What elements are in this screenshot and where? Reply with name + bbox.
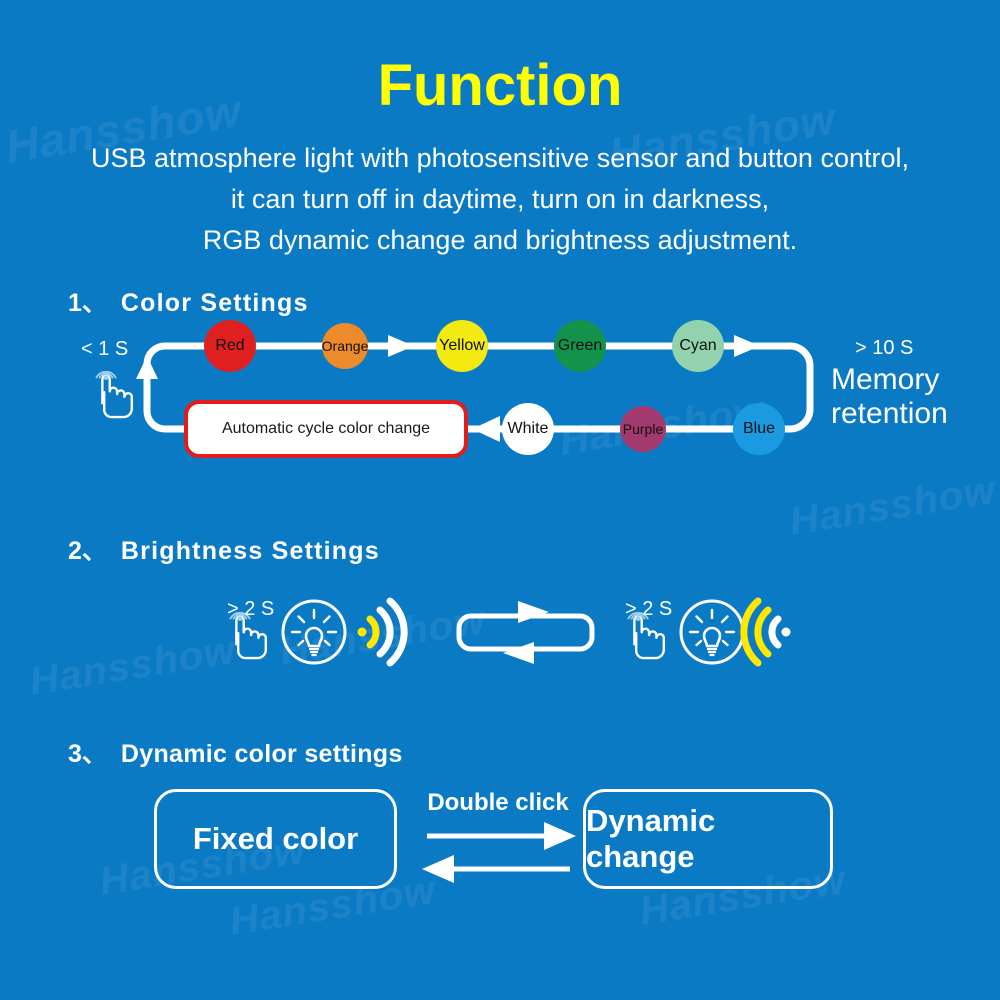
section-number: 3、 [68, 740, 107, 768]
color-node-label: Red [215, 337, 244, 355]
loop-arrows-icon [459, 601, 592, 664]
flow-arrow-right-2 [734, 335, 760, 357]
signal-waves-icon [358, 601, 405, 663]
poster-root: Hansshow Hansshow Hansshow Hansshow Hans… [0, 0, 1000, 1000]
brightness-press-duration-right: > 2 S [625, 598, 672, 621]
memory-retention-line: Memory [831, 363, 948, 397]
dynamic-change-box[interactable]: Dynamic change [583, 789, 833, 889]
color-node-purple[interactable]: Purple [620, 406, 666, 452]
color-node-label: Yellow [439, 337, 485, 355]
color-node-white[interactable]: White [502, 403, 554, 455]
watermark: Hansshow [786, 468, 999, 545]
brightness-bulb-icon [283, 601, 345, 663]
section-heading-color-settings: 1、Color Settings [68, 283, 309, 319]
flow-arrow-right-1 [388, 335, 414, 357]
automatic-cycle-box[interactable]: Automatic cycle color change [184, 400, 468, 458]
arrow-left-head [422, 855, 454, 883]
memory-retention-label: Memory retention [831, 363, 948, 431]
color-node-label: Orange [322, 338, 369, 354]
section-heading-brightness-settings: 2、Brightness Settings [68, 531, 380, 567]
memory-duration-label: > 10 S [855, 337, 913, 360]
color-node-orange[interactable]: Orange [322, 323, 368, 369]
color-node-red[interactable]: Red [204, 320, 256, 372]
color-node-blue[interactable]: Blue [733, 403, 785, 455]
section-label: Dynamic color settings [121, 740, 403, 768]
description-line: it can turn off in daytime, turn on in d… [0, 179, 1000, 220]
color-node-label: Blue [743, 420, 775, 438]
loop-arrow-right [518, 601, 549, 623]
flow-arrow-up [136, 356, 158, 379]
automatic-cycle-label: Automatic cycle color change [222, 420, 430, 438]
section-number: 1、 [68, 289, 107, 317]
color-node-green[interactable]: Green [554, 320, 606, 372]
fixed-color-box[interactable]: Fixed color [154, 789, 397, 889]
color-node-label: Cyan [679, 337, 716, 355]
section-number: 2、 [68, 537, 107, 565]
dynamic-change-label: Dynamic change [586, 803, 830, 875]
watermark: Hansshow [26, 628, 239, 705]
section-label: Brightness Settings [121, 537, 380, 565]
section-heading-dynamic-color-settings: 3、Dynamic color settings [68, 734, 403, 770]
description-line: USB atmosphere light with photosensitive… [0, 138, 1000, 179]
brightness-press-duration-left: > 2 S [227, 598, 274, 621]
color-node-label: Purple [623, 421, 663, 437]
double-click-label: Double click [424, 789, 572, 817]
press-duration-label: < 1 S [81, 338, 128, 361]
watermark: Hansshow [276, 598, 489, 675]
loop-arrow-left [503, 642, 534, 664]
color-node-yellow[interactable]: Yellow [436, 320, 488, 372]
page-description: USB atmosphere light with photosensitive… [0, 138, 1000, 261]
color-node-cyan[interactable]: Cyan [672, 320, 724, 372]
section-label: Color Settings [121, 289, 309, 317]
transition-arrows [422, 822, 576, 883]
arrow-right-head [544, 822, 576, 850]
brightness-bulb-icon [681, 601, 743, 663]
memory-retention-line: retention [831, 397, 948, 431]
flow-arrow-left [472, 416, 500, 442]
signal-waves-icon [744, 601, 791, 663]
description-line: RGB dynamic change and brightness adjust… [0, 220, 1000, 261]
page-title: Function [0, 52, 1000, 119]
color-node-label: White [508, 420, 549, 438]
tap-finger-icon [96, 372, 131, 417]
color-node-label: Green [558, 337, 602, 355]
fixed-color-label: Fixed color [193, 821, 358, 857]
